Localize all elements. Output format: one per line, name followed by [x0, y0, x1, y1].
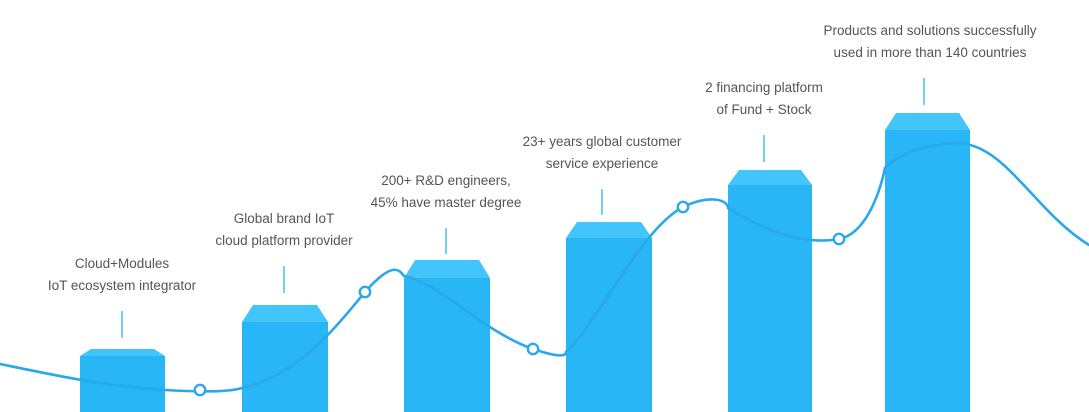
- trend-node-marker: [834, 234, 844, 244]
- caption-line: 45% have master degree: [371, 192, 522, 214]
- caption-line: cloud platform provider: [215, 230, 352, 252]
- bar-caption-4: 23+ years global customerservice experie…: [523, 131, 682, 175]
- bar-top-cap: [885, 113, 970, 130]
- bar-caption-6: Products and solutions successfullyused …: [823, 20, 1036, 64]
- bar-top-cap: [242, 305, 328, 322]
- trend-node-marker: [678, 202, 688, 212]
- bar-front-face: [242, 322, 328, 412]
- caption-line: Global brand IoT: [215, 208, 352, 230]
- bar-caption-2: Global brand IoTcloud platform provider: [215, 208, 352, 252]
- caption-line: Cloud+Modules: [48, 253, 196, 275]
- bar-front-face: [885, 130, 970, 412]
- bar-front-face: [80, 356, 165, 412]
- caption-line: Products and solutions successfully: [823, 20, 1036, 42]
- trend-node-marker: [360, 287, 370, 297]
- trend-node-marker: [195, 385, 205, 395]
- bar-front-face: [566, 238, 652, 412]
- bar-caption-5: 2 financing platformof Fund + Stock: [705, 77, 823, 121]
- bar-top-cap: [404, 260, 490, 278]
- caption-line: service experience: [523, 153, 682, 175]
- caption-line: 2 financing platform: [705, 77, 823, 99]
- bar-top-cap: [566, 222, 652, 238]
- caption-line: IoT ecosystem integrator: [48, 275, 196, 297]
- caption-line: 200+ R&D engineers,: [371, 170, 522, 192]
- caption-line: 23+ years global customer: [523, 131, 682, 153]
- bar-top-cap: [728, 170, 812, 185]
- bar-caption-1: Cloud+ModulesIoT ecosystem integrator: [48, 253, 196, 297]
- trend-node-marker: [528, 344, 538, 354]
- caption-line: used in more than 140 countries: [823, 42, 1036, 64]
- bar-caption-3: 200+ R&D engineers,45% have master degre…: [371, 170, 522, 214]
- infographic-bar-chart: Cloud+ModulesIoT ecosystem integratorGlo…: [0, 0, 1089, 412]
- caption-line: of Fund + Stock: [705, 99, 823, 121]
- bar-front-face: [728, 185, 812, 412]
- bar-top-cap: [80, 349, 165, 356]
